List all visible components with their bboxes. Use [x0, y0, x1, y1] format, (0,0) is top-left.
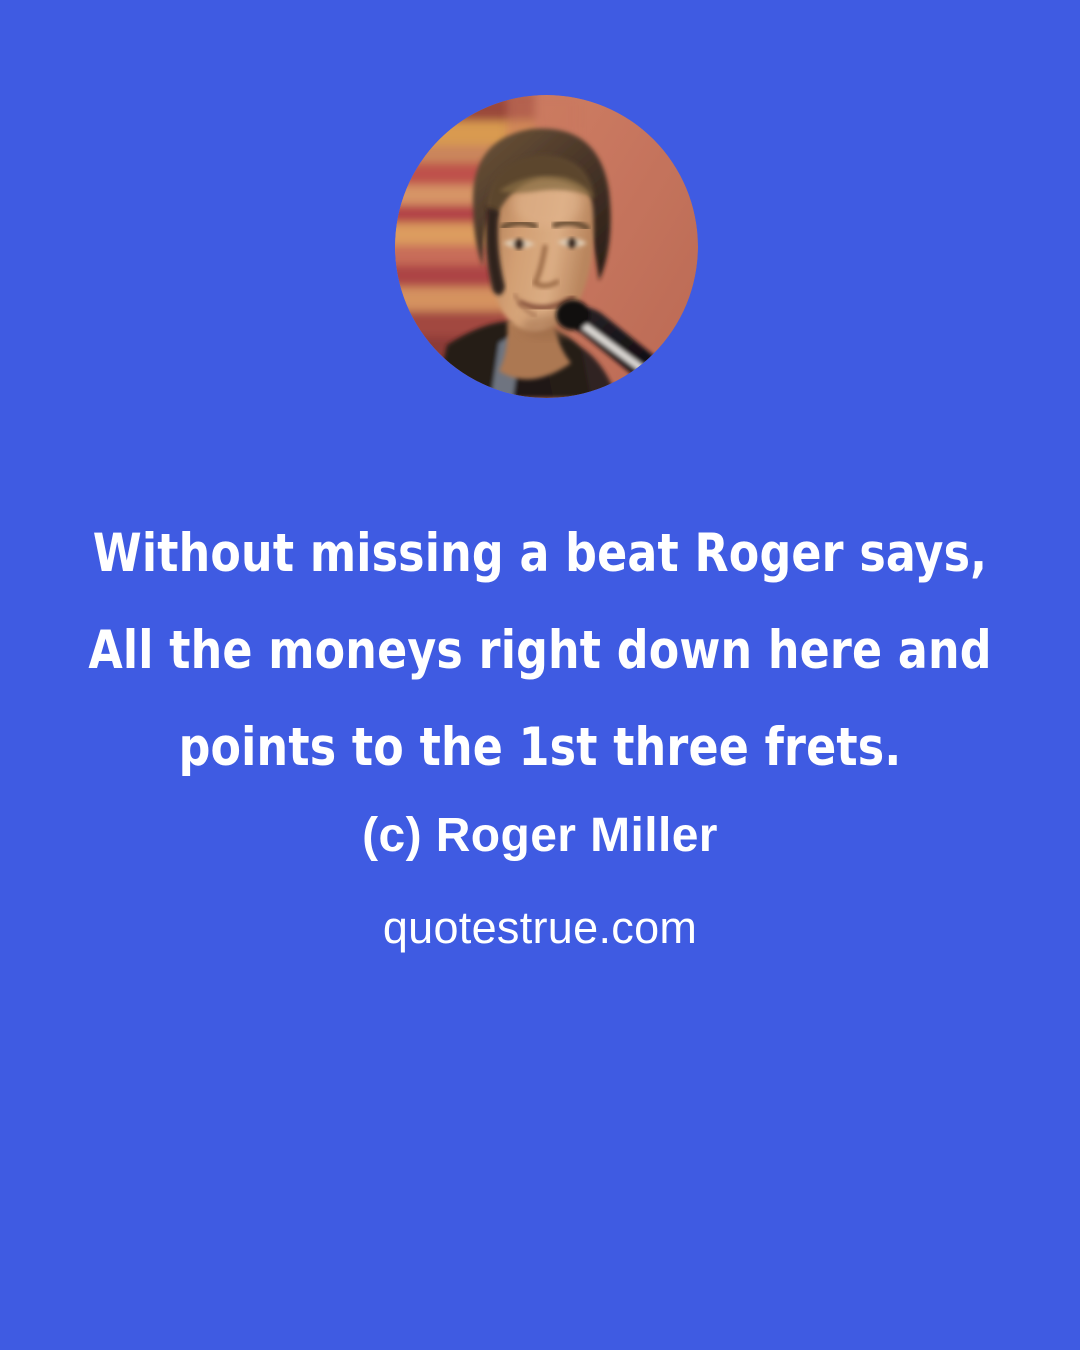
source-website: quotestrue.com: [0, 898, 1080, 958]
quote-line-2: All the moneys right down here and: [38, 602, 1042, 699]
quote-line-1: Without missing a beat Roger says,: [38, 505, 1042, 602]
avatar-portrait-image: [395, 95, 698, 398]
quote-line-3: points to the 1st three frets.: [38, 699, 1042, 796]
quote-body: Without missing a beat Roger says, All t…: [38, 505, 1042, 796]
avatar: [395, 95, 698, 398]
quote-attribution: (c) Roger Miller: [0, 806, 1080, 866]
quote-card: Without missing a beat Roger says, All t…: [0, 0, 1080, 1350]
